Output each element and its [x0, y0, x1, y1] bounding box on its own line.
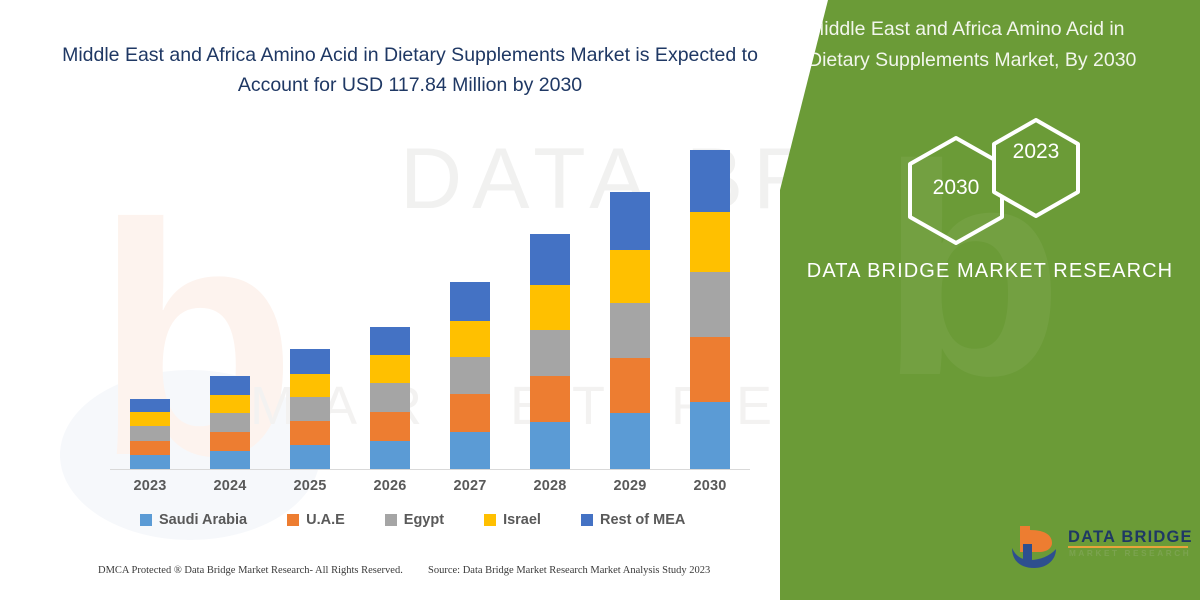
data-bridge-logo: DATA BRIDGE MARKET RESEARCH	[1006, 522, 1192, 574]
legend-swatch-icon	[581, 514, 593, 526]
bar-segment	[610, 303, 650, 357]
hexagon-2023-shape	[994, 120, 1078, 216]
x-axis-label: 2025	[270, 478, 350, 494]
bar-column	[210, 376, 250, 470]
bar-segment	[610, 413, 650, 470]
chart-panel: Middle East and Africa Amino Acid in Die…	[0, 0, 830, 600]
bar-segment	[450, 357, 490, 394]
legend-item[interactable]: Rest of MEA	[581, 512, 685, 528]
legend-label: Rest of MEA	[600, 512, 685, 528]
bar-column	[450, 282, 490, 470]
bar-segment	[370, 355, 410, 383]
bar-segment	[690, 272, 730, 337]
x-axis-label: 2026	[350, 478, 430, 494]
bar-segment	[130, 441, 170, 456]
legend-item[interactable]: Egypt	[385, 512, 444, 528]
legend-swatch-icon	[140, 514, 152, 526]
bar-segment	[210, 432, 250, 451]
bar-column	[610, 192, 650, 470]
hexagon-2023-label: 2023	[994, 140, 1078, 164]
bar-segment	[530, 376, 570, 422]
bar-segment	[210, 413, 250, 432]
bar-column	[690, 150, 730, 470]
bar-segment	[290, 421, 330, 445]
bar-segment	[290, 349, 330, 373]
bar-segment	[290, 374, 330, 398]
bar-segment	[370, 412, 410, 441]
brand-name: DATA BRIDGE MARKET RESEARCH	[800, 256, 1180, 286]
legend-item[interactable]: U.A.E	[287, 512, 345, 528]
bar-segment	[210, 451, 250, 470]
dmca-notice: DMCA Protected ® Data Bridge Market Rese…	[98, 565, 403, 576]
x-axis-label: 2030	[670, 478, 750, 494]
logo-mark-icon	[1006, 522, 1064, 570]
logo-tagline: MARKET RESEARCH	[1069, 549, 1191, 558]
bar-segment	[530, 234, 570, 285]
bar-segment	[690, 337, 730, 402]
bar-segment	[610, 250, 650, 304]
x-axis-label: 2024	[190, 478, 270, 494]
bar-segment	[690, 212, 730, 272]
legend-label: U.A.E	[306, 512, 345, 528]
bar-segment	[530, 422, 570, 470]
bar-segment	[210, 395, 250, 414]
bar-segment	[450, 394, 490, 431]
bar-segment	[690, 402, 730, 470]
bar-segment	[450, 432, 490, 471]
bar-segment	[370, 441, 410, 470]
bar-segment	[530, 330, 570, 376]
legend-swatch-icon	[287, 514, 299, 526]
legend-label: Egypt	[404, 512, 444, 528]
bar-column	[130, 399, 170, 470]
hexagon-badges: 2030 2023	[890, 118, 1120, 253]
bar-column	[370, 327, 410, 470]
legend-swatch-icon	[385, 514, 397, 526]
bar-segment	[130, 455, 170, 470]
bar-segment	[130, 399, 170, 412]
hexagon-2030-label: 2030	[914, 176, 998, 200]
x-axis-label: 2023	[110, 478, 190, 494]
chart-legend: Saudi ArabiaU.A.EEgyptIsraelRest of MEA	[140, 512, 685, 528]
bar-segment	[370, 383, 410, 411]
green-panel-title: Middle East and Africa Amino Acid in Die…	[808, 14, 1180, 76]
legend-item[interactable]: Saudi Arabia	[140, 512, 247, 528]
legend-label: Israel	[503, 512, 541, 528]
bar-column	[290, 349, 330, 470]
chart-title: Middle East and Africa Amino Acid in Die…	[60, 40, 760, 100]
bar-segment	[530, 285, 570, 330]
bar-segment	[610, 358, 650, 413]
bar-column	[530, 234, 570, 470]
bar-segment	[690, 150, 730, 212]
legend-item[interactable]: Israel	[484, 512, 541, 528]
x-axis-label: 2028	[510, 478, 590, 494]
x-axis-label: 2027	[430, 478, 510, 494]
bar-segment	[450, 321, 490, 357]
logo-name: DATA BRIDGE	[1068, 528, 1193, 547]
legend-label: Saudi Arabia	[159, 512, 247, 528]
source-note: Source: Data Bridge Market Research Mark…	[428, 565, 710, 576]
bar-segment	[610, 192, 650, 249]
x-axis-label: 2029	[590, 478, 670, 494]
bar-segment	[130, 412, 170, 427]
bar-segment	[210, 376, 250, 394]
x-axis-line	[110, 469, 750, 470]
bar-segment	[130, 426, 170, 441]
bar-segment	[370, 327, 410, 356]
footer: DMCA Protected ® Data Bridge Market Rese…	[0, 565, 800, 585]
bar-segment	[290, 397, 330, 421]
legend-swatch-icon	[484, 514, 496, 526]
green-sidebar-panel: b Middle East and Africa Amino Acid in D…	[780, 0, 1200, 600]
stacked-bar-chart-plot	[110, 140, 750, 470]
bar-segment	[290, 445, 330, 470]
bar-segment	[450, 282, 490, 321]
x-axis-tick-labels: 20232024202520262027202820292030	[110, 478, 750, 500]
